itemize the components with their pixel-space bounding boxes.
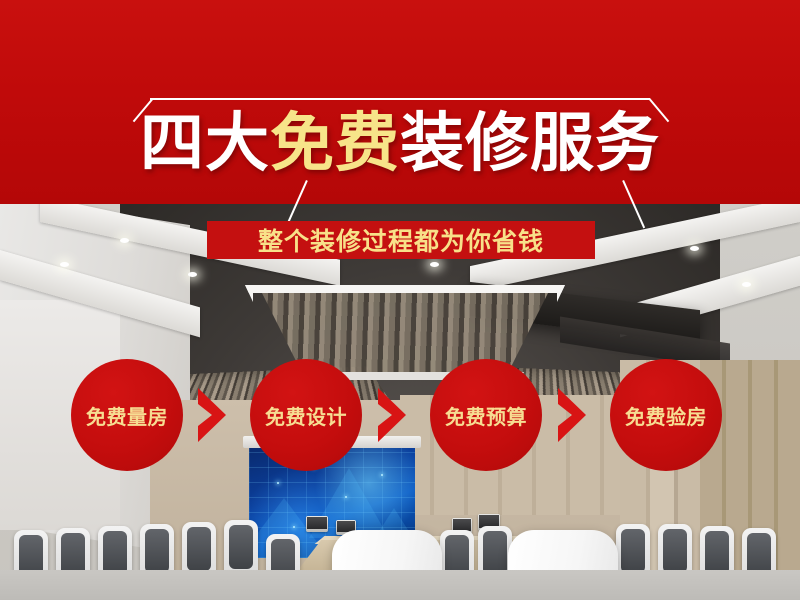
subtitle-bar: 整个装修过程都为你省钱 [207, 221, 595, 259]
headline-part-2: 装修服务 [400, 107, 660, 181]
downlight-icon [690, 246, 699, 251]
screen-node [293, 526, 295, 528]
step-label-4: 免费验房 [625, 401, 707, 430]
step-bubble-2[interactable]: 免费设计 [250, 359, 362, 471]
subtitle-text: 整个装修过程都为你省钱 [258, 222, 544, 258]
headline-part-1: 四大 [140, 107, 270, 181]
headline: 四大免费装修服务 [0, 112, 800, 176]
downlight-icon [188, 272, 197, 277]
step-bubble-3[interactable]: 免费预算 [430, 359, 542, 471]
floor [0, 570, 800, 600]
poster: 灿 源 堂 饰 CanYuan Decoration 四大免费装修服务 整个装修… [0, 0, 800, 600]
decor-rule-top [150, 98, 650, 100]
step-label-1: 免费量房 [86, 401, 168, 430]
step-label-2: 免费设计 [265, 401, 347, 430]
downlight-icon [120, 238, 129, 243]
chevron-right-icon-2 [376, 386, 410, 444]
downlight-icon [742, 282, 751, 287]
step-label-3: 免费预算 [445, 401, 527, 430]
screen-node [277, 482, 279, 484]
headline-part-highlight: 免费 [270, 107, 400, 181]
downlight-icon [60, 262, 69, 267]
step-bubble-1[interactable]: 免费量房 [71, 359, 183, 471]
screen-node [381, 474, 383, 476]
monitor-icon [306, 516, 328, 532]
chevron-right-icon-3 [556, 386, 590, 444]
screen-node [345, 496, 347, 498]
chevron-right-icon-1 [196, 386, 230, 444]
step-bubble-4[interactable]: 免费验房 [610, 359, 722, 471]
downlight-icon [430, 262, 439, 267]
